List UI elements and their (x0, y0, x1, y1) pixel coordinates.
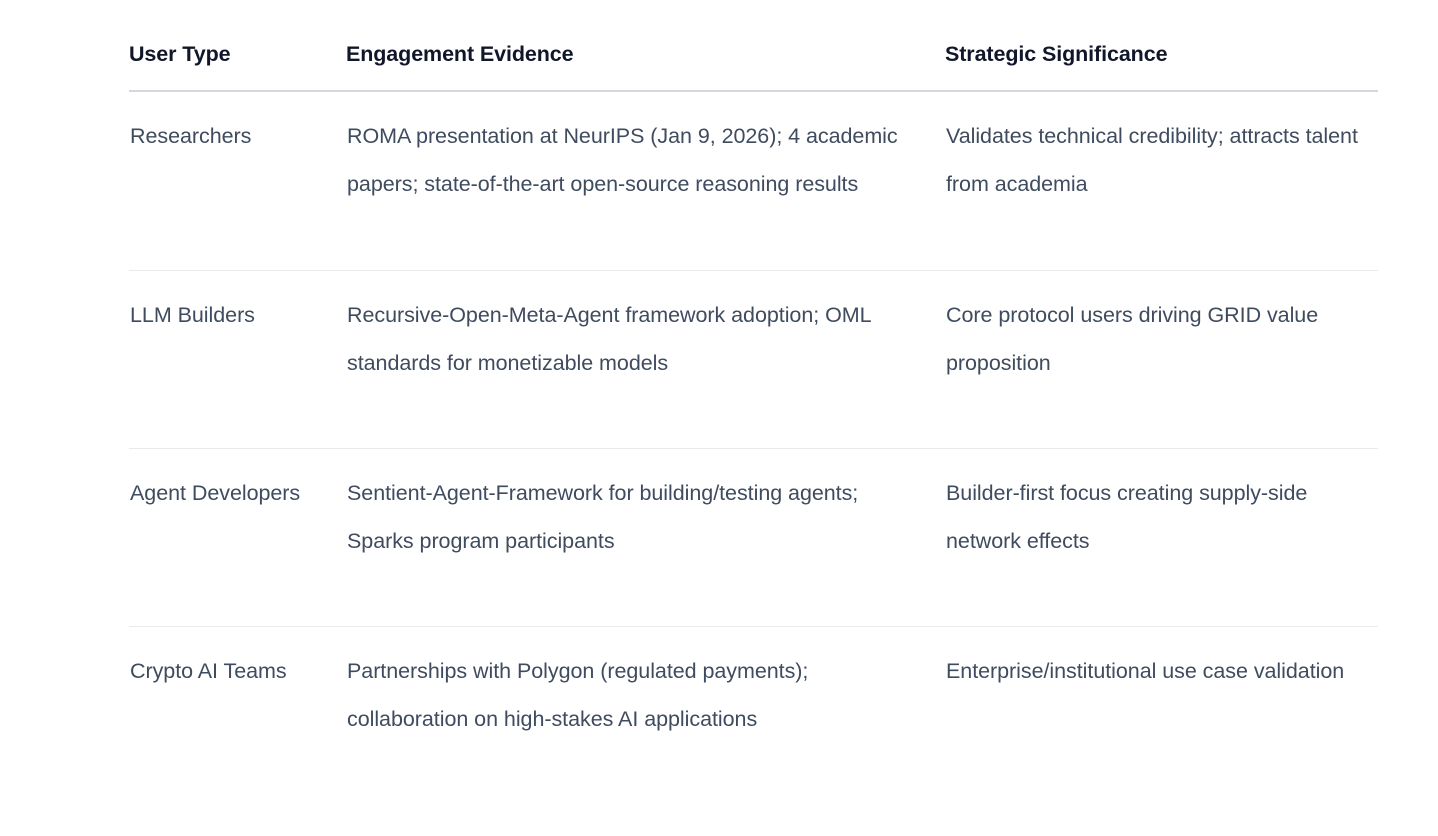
table-header-row: User Type Engagement Evidence Strategic … (129, 0, 1378, 91)
cell-user-type: Agent Developers (129, 448, 346, 626)
cell-engagement-evidence-text: ROMA presentation at NeurIPS (Jan 9, 202… (347, 112, 915, 208)
cell-engagement-evidence-text: Sentient-Agent-Framework for building/te… (347, 469, 915, 565)
cell-engagement-evidence: ROMA presentation at NeurIPS (Jan 9, 202… (346, 91, 945, 270)
table-row: Researchers ROMA presentation at NeurIPS… (129, 91, 1378, 270)
table-row: Crypto AI Teams Partnerships with Polygo… (129, 626, 1378, 804)
cell-strategic-significance-text: Core protocol users driving GRID value p… (946, 291, 1378, 387)
cell-user-type: Crypto AI Teams (129, 626, 346, 804)
column-header-user-type: User Type (129, 0, 346, 91)
cell-strategic-significance-text: Validates technical credibility; attract… (946, 112, 1378, 208)
table-row: Agent Developers Sentient-Agent-Framewor… (129, 448, 1378, 626)
table-row: LLM Builders Recursive-Open-Meta-Agent f… (129, 270, 1378, 448)
cell-user-type-text: Researchers (130, 112, 316, 160)
column-header-strategic-significance: Strategic Significance (945, 0, 1378, 91)
cell-strategic-significance-text: Enterprise/institutional use case valida… (946, 647, 1378, 695)
column-header-engagement-evidence: Engagement Evidence (346, 0, 945, 91)
cell-engagement-evidence-text: Recursive-Open-Meta-Agent framework adop… (347, 291, 915, 387)
column-header-user-type-label: User Type (129, 1, 316, 90)
column-header-strategic-significance-label: Strategic Significance (945, 1, 1378, 90)
engagement-table: User Type Engagement Evidence Strategic … (129, 0, 1378, 804)
cell-strategic-significance: Core protocol users driving GRID value p… (945, 270, 1378, 448)
cell-strategic-significance: Validates technical credibility; attract… (945, 91, 1378, 270)
cell-user-type: Researchers (129, 91, 346, 270)
column-header-engagement-evidence-label: Engagement Evidence (346, 1, 915, 90)
table-header: User Type Engagement Evidence Strategic … (129, 0, 1378, 91)
cell-engagement-evidence-text: Partnerships with Polygon (regulated pay… (347, 647, 915, 743)
cell-engagement-evidence: Partnerships with Polygon (regulated pay… (346, 626, 945, 804)
cell-user-type-text: Agent Developers (130, 469, 316, 517)
page-root: User Type Engagement Evidence Strategic … (0, 0, 1438, 836)
cell-user-type: LLM Builders (129, 270, 346, 448)
table-container: User Type Engagement Evidence Strategic … (129, 0, 1378, 804)
table-body: Researchers ROMA presentation at NeurIPS… (129, 91, 1378, 804)
cell-strategic-significance: Enterprise/institutional use case valida… (945, 626, 1378, 804)
cell-user-type-text: LLM Builders (130, 291, 316, 339)
cell-strategic-significance-text: Builder-first focus creating supply-side… (946, 469, 1378, 565)
cell-user-type-text: Crypto AI Teams (130, 647, 316, 695)
cell-engagement-evidence: Recursive-Open-Meta-Agent framework adop… (346, 270, 945, 448)
cell-engagement-evidence: Sentient-Agent-Framework for building/te… (346, 448, 945, 626)
cell-strategic-significance: Builder-first focus creating supply-side… (945, 448, 1378, 626)
